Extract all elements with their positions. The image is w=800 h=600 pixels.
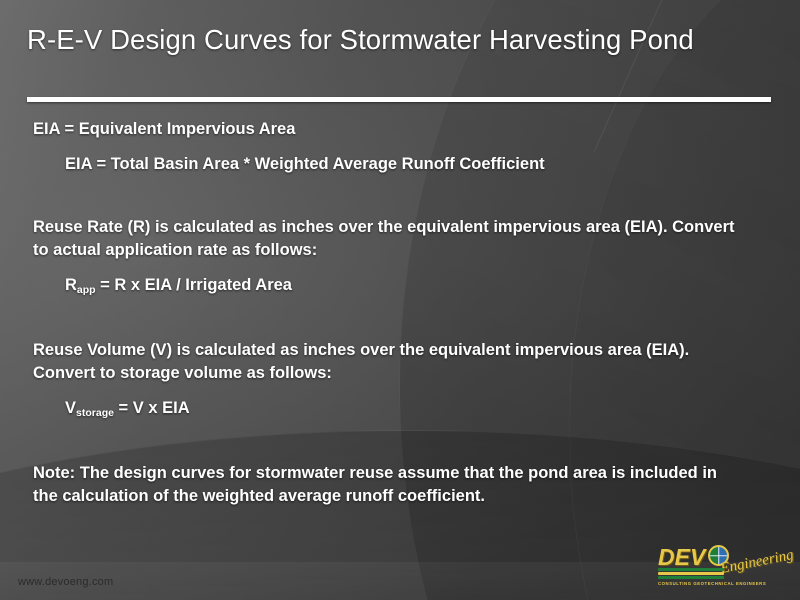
- r-app-base: R: [65, 276, 77, 294]
- logo-stripe-green-top: [658, 568, 724, 571]
- presentation-slide: R-E-V Design Curves for Stormwater Harve…: [0, 0, 800, 600]
- definition-eia-formula: EIA = Total Basin Area * Weighted Averag…: [65, 153, 773, 176]
- note-paragraph: Note: The design curves for stormwater r…: [33, 462, 745, 508]
- title-divider-rule: [27, 97, 771, 102]
- v-storage-subscript: storage: [76, 407, 114, 419]
- devo-engineering-logo: DEV Engineering CONSULTING GEOTECHNICAL …: [654, 542, 788, 594]
- reuse-rate-paragraph: Reuse Rate (R) is calculated as inches o…: [33, 216, 745, 262]
- logo-tagline: CONSULTING GEOTECHNICAL ENGINEERS: [658, 581, 766, 586]
- footer-website-url: www.devoeng.com: [18, 576, 113, 588]
- spacer: [33, 385, 773, 397]
- slide-body: EIA = Equivalent Impervious Area EIA = T…: [33, 118, 773, 508]
- reuse-volume-formula: Vstorage = V x EIA: [65, 397, 773, 422]
- slide-title: R-E-V Design Curves for Stormwater Harve…: [27, 24, 775, 56]
- spacer: [33, 176, 773, 216]
- v-storage-base: V: [65, 399, 76, 417]
- spacer: [33, 141, 773, 153]
- logo-stripe-gold: [658, 572, 724, 575]
- reuse-rate-formula: Rapp = R x EIA / Irrigated Area: [65, 274, 773, 299]
- logo-wordmark: DEV: [658, 544, 705, 571]
- spacer: [33, 422, 773, 462]
- reuse-volume-paragraph: Reuse Volume (V) is calculated as inches…: [33, 339, 745, 385]
- r-app-rest: = R x EIA / Irrigated Area: [96, 276, 292, 294]
- r-app-subscript: app: [77, 284, 96, 296]
- v-storage-rest: = V x EIA: [114, 399, 190, 417]
- definition-eia-line: EIA = Equivalent Impervious Area: [33, 118, 773, 141]
- logo-stripe-green-bottom: [658, 576, 724, 579]
- spacer: [33, 299, 773, 339]
- spacer: [33, 262, 773, 274]
- logo-script-text: Engineering: [719, 547, 795, 578]
